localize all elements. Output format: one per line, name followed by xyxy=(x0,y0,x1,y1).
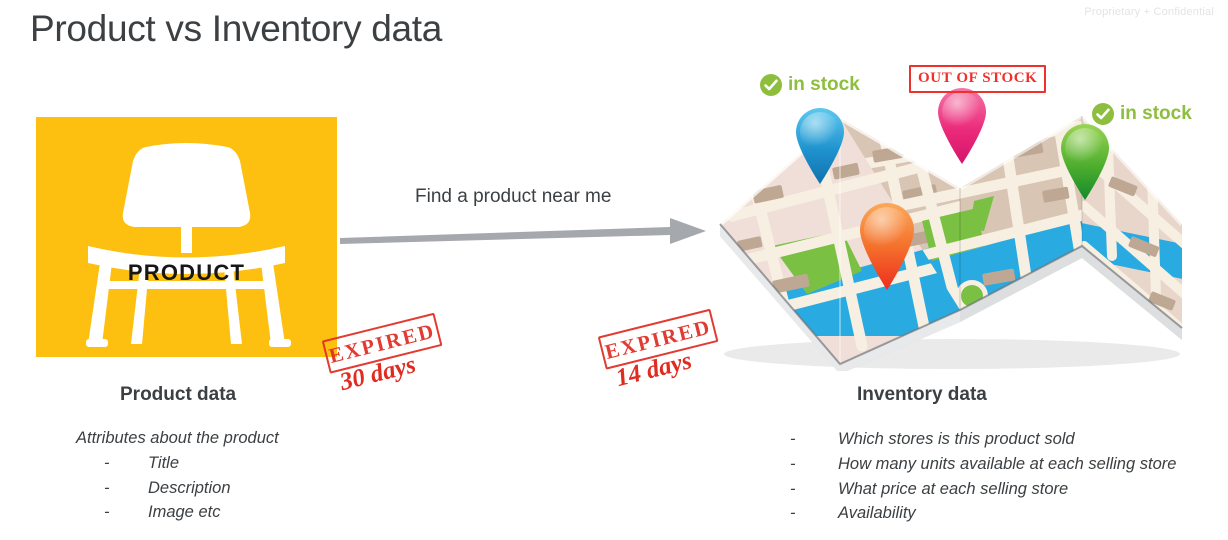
in-stock-label: in stock xyxy=(788,74,860,96)
pin-orange-icon[interactable] xyxy=(855,198,919,292)
bullet-dash: - xyxy=(790,477,838,501)
check-circle-icon xyxy=(1092,103,1114,125)
map-illustration xyxy=(712,96,1192,371)
bullet-dash: - xyxy=(790,427,838,451)
list-item-label: Image etc xyxy=(148,500,220,524)
list-item-label: Title xyxy=(148,451,179,475)
out-of-stock-stamp: OUT OF STOCK xyxy=(909,65,1046,93)
list-item-label: How many units available at each selling… xyxy=(838,452,1176,476)
bullet-dash: - xyxy=(104,451,148,475)
list-item-label: Which stores is this product sold xyxy=(838,427,1075,451)
in-stock-badge-left: in stock xyxy=(760,74,860,96)
confidentiality-notice: Proprietary + Confidential xyxy=(1084,6,1214,18)
in-stock-badge-right: in stock xyxy=(1092,103,1192,125)
list-item: - Description xyxy=(104,476,406,500)
bullet-dash: - xyxy=(790,452,838,476)
list-item-label: What price at each selling store xyxy=(838,477,1068,501)
list-item-label: Description xyxy=(148,476,231,500)
arrow-label: Find a product near me xyxy=(415,186,611,208)
inventory-attribute-list: - Which stores is this product sold - Ho… xyxy=(790,427,1190,526)
product-tile-label: PRODUCT xyxy=(36,260,337,286)
pin-green-icon[interactable] xyxy=(1057,120,1113,202)
slide-canvas: Proprietary + Confidential Product vs In… xyxy=(0,0,1228,540)
pin-pink-icon[interactable] xyxy=(934,84,990,166)
chair-icon xyxy=(36,117,337,357)
list-item-label: Availability xyxy=(838,501,916,525)
page-title: Product vs Inventory data xyxy=(30,8,442,50)
list-item: - Availability xyxy=(790,501,1190,525)
bullet-dash: - xyxy=(104,476,148,500)
product-caption-title: Product data xyxy=(120,384,236,406)
list-item: - How many units available at each selli… xyxy=(790,452,1190,476)
list-item: - Title xyxy=(104,451,406,475)
bullet-dash: - xyxy=(104,500,148,524)
product-image-tile: PRODUCT xyxy=(36,117,337,357)
bullet-dash: - xyxy=(790,501,838,525)
list-item: - Which stores is this product sold xyxy=(790,427,1190,451)
product-caption-body: Attributes about the product - Title - D… xyxy=(76,426,406,524)
product-attribute-list: - Title - Description - Image etc xyxy=(104,451,406,524)
pin-blue-icon[interactable] xyxy=(792,104,848,186)
check-circle-icon xyxy=(760,74,782,96)
list-item: - Image etc xyxy=(104,500,406,524)
product-caption-lead: Attributes about the product xyxy=(76,426,406,450)
expired-stamp-product: EXPIRED 30 days xyxy=(319,298,467,419)
inventory-caption-title: Inventory data xyxy=(857,384,987,406)
list-item: - What price at each selling store xyxy=(790,477,1190,501)
flow-arrow: Find a product near me xyxy=(340,200,710,260)
inventory-caption-body: - Which stores is this product sold - Ho… xyxy=(790,427,1190,526)
in-stock-label: in stock xyxy=(1120,103,1192,125)
